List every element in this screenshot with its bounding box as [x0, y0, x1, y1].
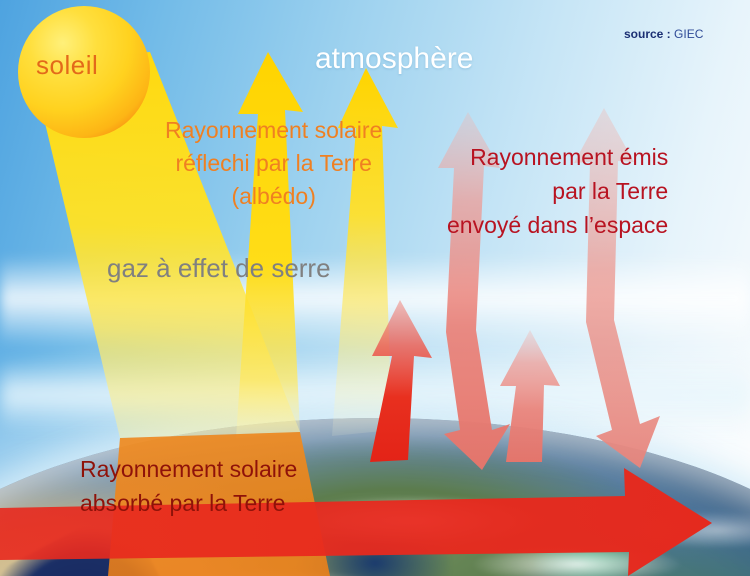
albedo-label: Rayonnement solaire réflechi par la Terr… [165, 114, 382, 213]
albedo-label-line2: réflechi par la Terre [165, 147, 382, 180]
sun-label: soleil [36, 50, 98, 81]
absorbed-label-line1: Rayonnement solaire [80, 452, 297, 486]
emitted-label-line3: envoyé dans l’espace [447, 208, 668, 242]
absorbed-radiation-label: Rayonnement solaire absorbé par la Terre [80, 452, 297, 520]
source-value: GIEC [674, 27, 703, 41]
greenhouse-gases-label: gaz à effet de serre [107, 253, 331, 284]
emitted-label-line1: Rayonnement émis [447, 140, 668, 174]
albedo-label-line1: Rayonnement solaire [165, 114, 382, 147]
absorbed-label-line2: absorbé par la Terre [80, 486, 297, 520]
emitted-radiation-label: Rayonnement émis par la Terre envoyé dan… [447, 140, 668, 242]
albedo-label-line3: (albédo) [165, 180, 382, 213]
greenhouse-effect-diagram: soleil atmosphère Rayonnement solaire ré… [0, 0, 750, 576]
emitted-label-line2: par la Terre [447, 174, 668, 208]
source-credit: source : GIEC [624, 27, 703, 41]
atmosphere-label: atmosphère [315, 42, 473, 76]
source-prefix: source : [624, 27, 671, 41]
